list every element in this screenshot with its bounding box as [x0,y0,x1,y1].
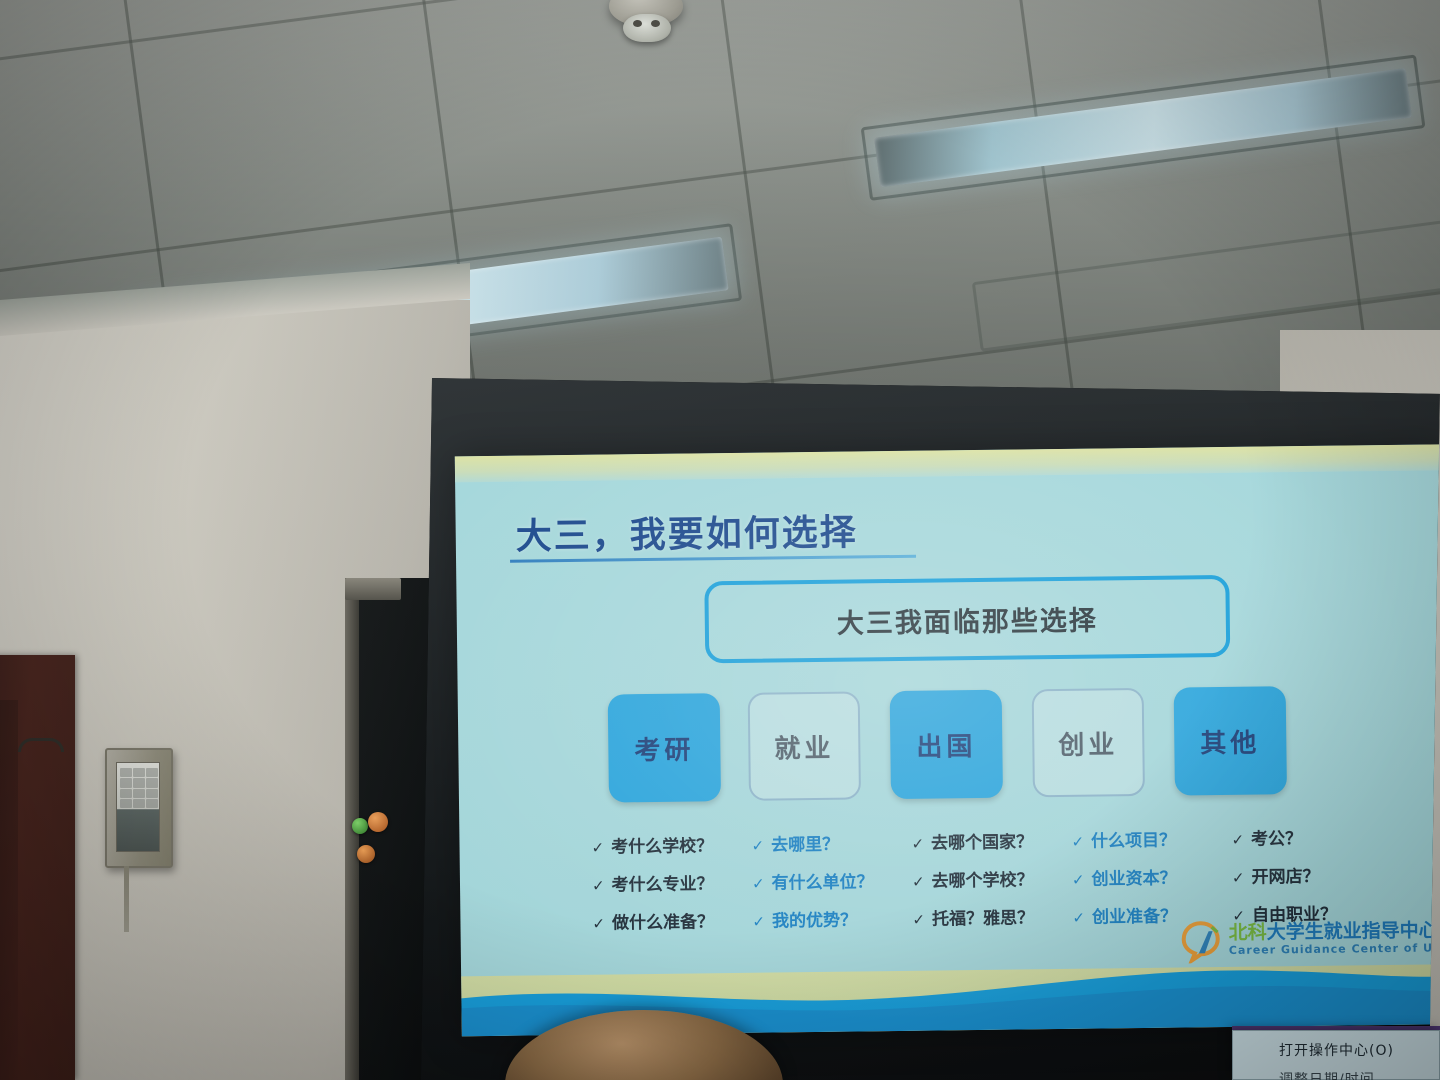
projection-screen: 大三，我要如何选择 大三我面临那些选择 考研 就业 出国 创业 其他 ✓ 考什么… [421,378,1440,1080]
check-icon: ✓ [1072,871,1085,889]
card-chuguo[interactable]: 出国 [890,690,1003,799]
list-item: ✓ 我的优势？ [752,905,912,932]
list-item: ✓ 创业资本？ [1072,863,1232,890]
magnet-orange-1 [368,812,388,832]
list-item-label: 创业资本？ [1091,864,1176,890]
list-item-label: 去哪个国家？ [931,827,1033,853]
list-item-label: 什么项目？ [1091,826,1176,852]
wall-keypad-panel[interactable] [105,748,173,868]
magnet-orange-2 [357,845,375,863]
list-item: ✓ 去哪里？ [751,829,911,856]
list-item: ✓ 开网店？ [1232,861,1392,888]
list-item: ✓ 做什么准备？ [592,907,752,934]
check-icon: ✓ [1232,869,1245,887]
list-item-label: 做什么准备？ [612,907,714,933]
card-qita[interactable]: 其他 [1174,686,1287,795]
list-item-label: 托福？雅思？ [932,903,1034,929]
list-item-label: 去哪里？ [771,830,839,856]
list-item-label: 开网店？ [1251,862,1319,888]
list-item: ✓ 托福？雅思？ [912,903,1072,930]
check-icon: ✓ [752,913,765,931]
magnet-green [352,818,368,834]
callout-box: 大三我面临那些选择 [704,575,1230,663]
logo-chinese-text: 北科大学生就业指导中心 [1228,915,1437,945]
check-icon: ✓ [1072,909,1085,927]
check-icon: ✓ [912,873,925,891]
list-item-label: 考什么专业？ [611,869,713,895]
logo-cn-green: 北科 [1229,921,1267,943]
smoke-detector-icon [609,0,683,44]
check-icon: ✓ [751,837,764,855]
keypad-keys[interactable] [120,768,158,808]
presentation-slide: 大三，我要如何选择 大三我面临那些选择 考研 就业 出国 创业 其他 ✓ 考什么… [455,444,1440,1036]
classroom-photo-scene: 大三，我要如何选择 大三我面临那些选择 考研 就业 出国 创业 其他 ✓ 考什么… [0,0,1440,1080]
card-kaoyan[interactable]: 考研 [608,693,721,802]
list-item-label: 去哪个学校？ [931,865,1033,891]
slide-title: 大三，我要如何选择 [515,503,858,559]
keypad-conduit [18,738,64,752]
card-chuangye[interactable]: 创业 [1032,688,1145,797]
door-panel [0,700,18,1080]
check-icon: ✓ [752,875,765,893]
callout-text: 大三我面临那些选择 [837,598,1098,640]
logo-cn-blue: 大学生就业指导中心 [1267,919,1438,943]
list-item: ✓ 去哪个学校？ [912,865,1072,892]
list-item: ✓ 去哪个国家？ [911,827,1071,854]
menu-item-open-action-center[interactable]: 打开操作中心(O) [1279,1040,1394,1060]
check-icon: ✓ [592,877,605,895]
list-item: ✓ 考公？ [1231,823,1391,850]
blackboard-rail [345,578,401,600]
list-item-label: 我的优势？ [772,905,857,931]
list-item-label: 有什么单位？ [771,867,873,893]
column-jiuye: ✓ 去哪里？ ✓ 有什么单位？ ✓ 我的优势？ [751,829,912,951]
list-item-label: 考公？ [1251,824,1302,850]
keypad-cable [124,866,129,932]
check-icon: ✓ [592,915,605,933]
card-jiuye[interactable]: 就业 [748,691,861,800]
column-chuguo: ✓ 去哪个国家？ ✓ 去哪个学校？ ✓ 托福？雅思？ [911,827,1072,949]
list-item-label: 创业准备？ [1092,902,1177,928]
check-icon: ✓ [1231,831,1244,849]
list-item: ✓ 考什么专业？ [592,869,752,896]
check-icon: ✓ [912,911,925,929]
option-cards: 考研 就业 出国 创业 其他 [608,686,1339,815]
list-item: ✓ 考什么学校？ [591,831,751,858]
column-kaoyan: ✓ 考什么学校？ ✓ 考什么专业？ ✓ 做什么准备？ [591,831,752,953]
menu-item-adjust-datetime[interactable]: 调整日期/时间 [1279,1069,1375,1080]
check-icon: ✓ [1071,833,1084,851]
check-icon: ✓ [911,835,924,853]
list-item: ✓ 什么项目？ [1071,825,1231,852]
windows-context-menu[interactable]: 打开操作中心(O) 调整日期/时间 [1232,1030,1440,1080]
list-item: ✓ 有什么单位？ [752,867,912,894]
list-item-label: 考什么学校？ [611,831,713,857]
check-icon: ✓ [591,839,604,857]
